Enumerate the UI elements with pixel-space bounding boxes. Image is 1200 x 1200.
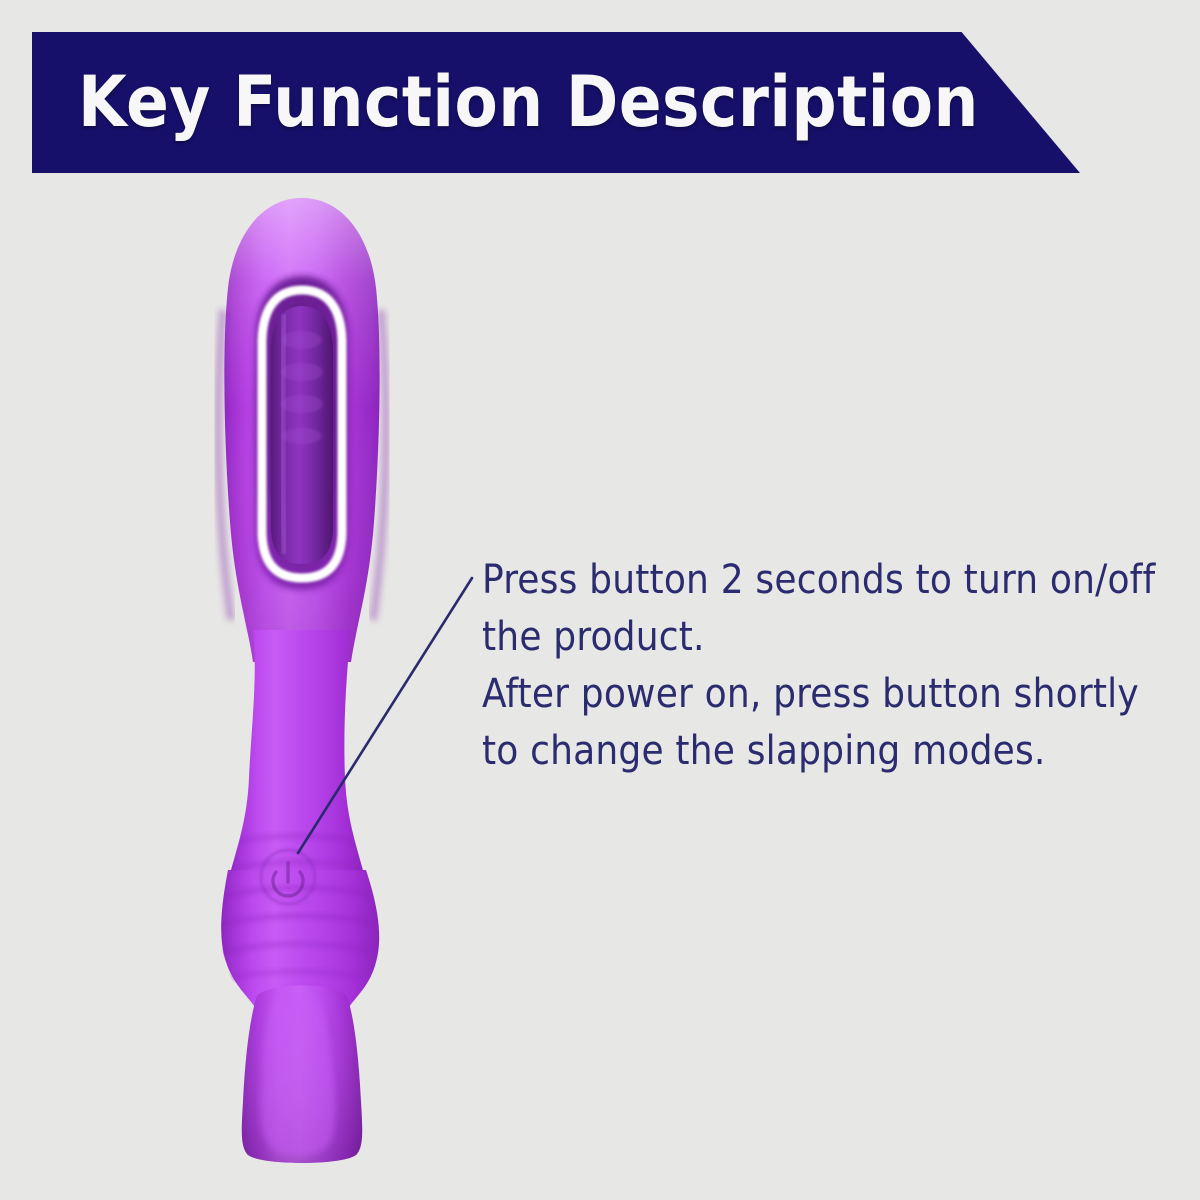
product-handle (242, 986, 362, 1164)
product-neck (228, 630, 366, 882)
description-block: Press button 2 seconds to turn on/off th… (482, 552, 1142, 780)
product-illustration (185, 190, 420, 1165)
product-slot (255, 276, 349, 590)
header-banner: Key Function Description (0, 0, 1200, 200)
product-image (185, 190, 420, 1165)
description-line-1: Press button 2 seconds to turn on/off (482, 552, 1142, 609)
description-line-2: the product. (482, 609, 1142, 666)
power-button-icon (262, 852, 314, 904)
description-line-3: After power on, press button shortly (482, 666, 1142, 723)
page-title: Key Function Description (78, 52, 978, 152)
description-line-4: to change the slapping modes. (482, 723, 1142, 780)
infographic-canvas: Key Function Description (0, 0, 1200, 1200)
